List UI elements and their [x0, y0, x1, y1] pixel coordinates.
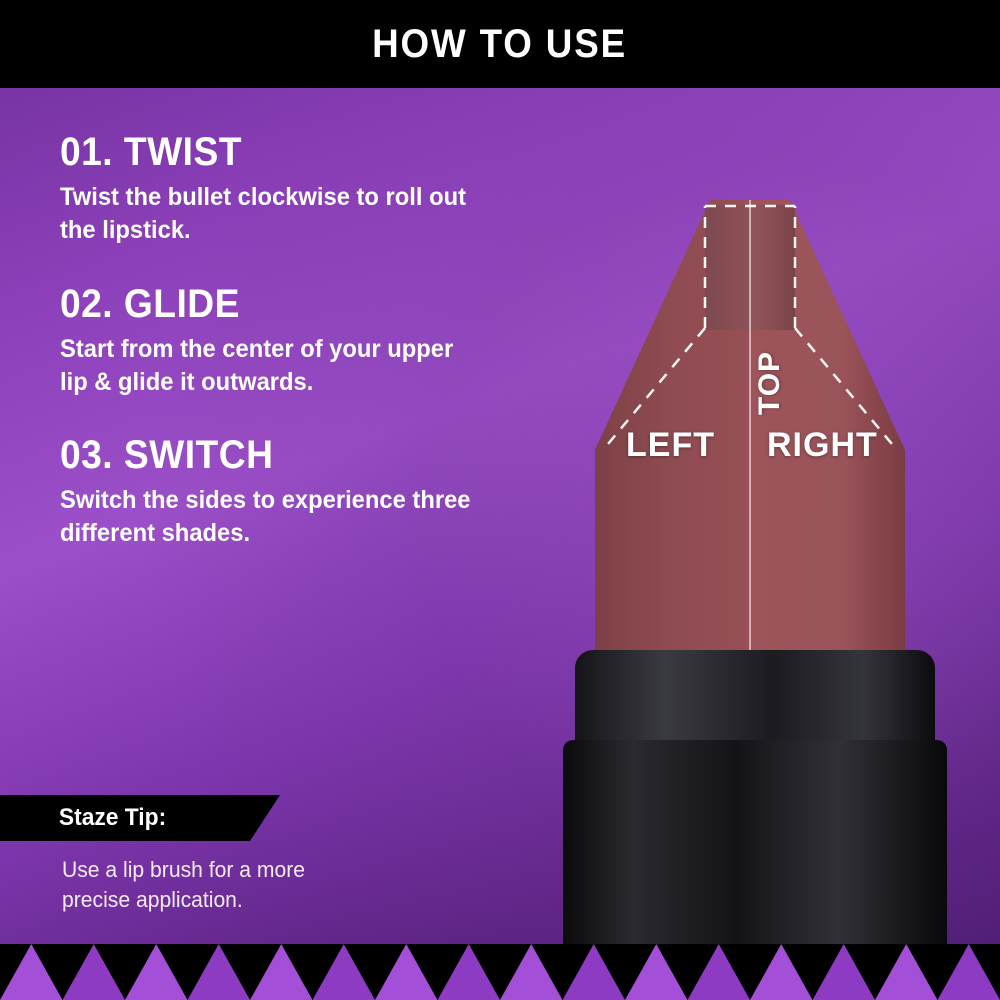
chevron	[625, 944, 688, 1000]
chevron	[438, 944, 501, 1000]
chevron	[375, 944, 438, 1000]
step-01-heading: 01. TWIST	[60, 130, 506, 175]
step-01-twist: 01. TWIST Twist the bullet clockwise to …	[60, 130, 540, 248]
tip-body: Use a lip brush for a more precise appli…	[62, 855, 379, 914]
chevron	[188, 944, 251, 1000]
how-to-use-infographic: HOW TO USE 01. TWIST Twist the bullet cl…	[0, 0, 1000, 1000]
chevron	[563, 944, 626, 1000]
bullet-top-shade-left	[705, 205, 750, 330]
header-banner: HOW TO USE	[0, 0, 1000, 88]
lipstick-illustration: TOP LEFT RIGHT	[545, 150, 965, 1000]
chevron	[125, 944, 188, 1000]
label-right: RIGHT	[767, 426, 878, 465]
footer-banner	[0, 944, 1000, 1000]
step-02-glide: 02. GLIDE Start from the center of your …	[60, 282, 540, 400]
chevron	[63, 944, 126, 1000]
tip-label: Staze Tip:	[0, 804, 166, 832]
chevron	[750, 944, 813, 1000]
label-top: TOP	[753, 351, 787, 415]
bullet-top-shade-right	[750, 205, 795, 330]
step-02-body: Start from the center of your upper lip …	[60, 333, 469, 400]
step-02-heading: 02. GLIDE	[60, 282, 506, 327]
page-title: HOW TO USE	[373, 22, 628, 67]
chevron	[688, 944, 751, 1000]
chevron	[875, 944, 938, 1000]
chevron	[500, 944, 563, 1000]
step-03-switch: 03. SWITCH Switch the sides to experienc…	[60, 433, 540, 551]
chevron-strip	[0, 944, 1000, 1000]
chevron	[938, 944, 1000, 1000]
label-left: LEFT	[626, 426, 715, 465]
chevron	[0, 944, 63, 1000]
step-01-body: Twist the bullet clockwise to roll out t…	[60, 181, 469, 248]
step-03-body: Switch the sides to experience three dif…	[60, 484, 507, 551]
lipstick-graphic	[545, 150, 965, 1000]
instructions-column: 01. TWIST Twist the bullet clockwise to …	[60, 130, 540, 585]
step-03-heading: 03. SWITCH	[60, 433, 506, 478]
chevron	[250, 944, 313, 1000]
chevron	[313, 944, 376, 1000]
chevron	[813, 944, 876, 1000]
tip-banner: Staze Tip:	[0, 795, 250, 841]
tip-block: Staze Tip: Use a lip brush for a more pr…	[0, 795, 560, 914]
